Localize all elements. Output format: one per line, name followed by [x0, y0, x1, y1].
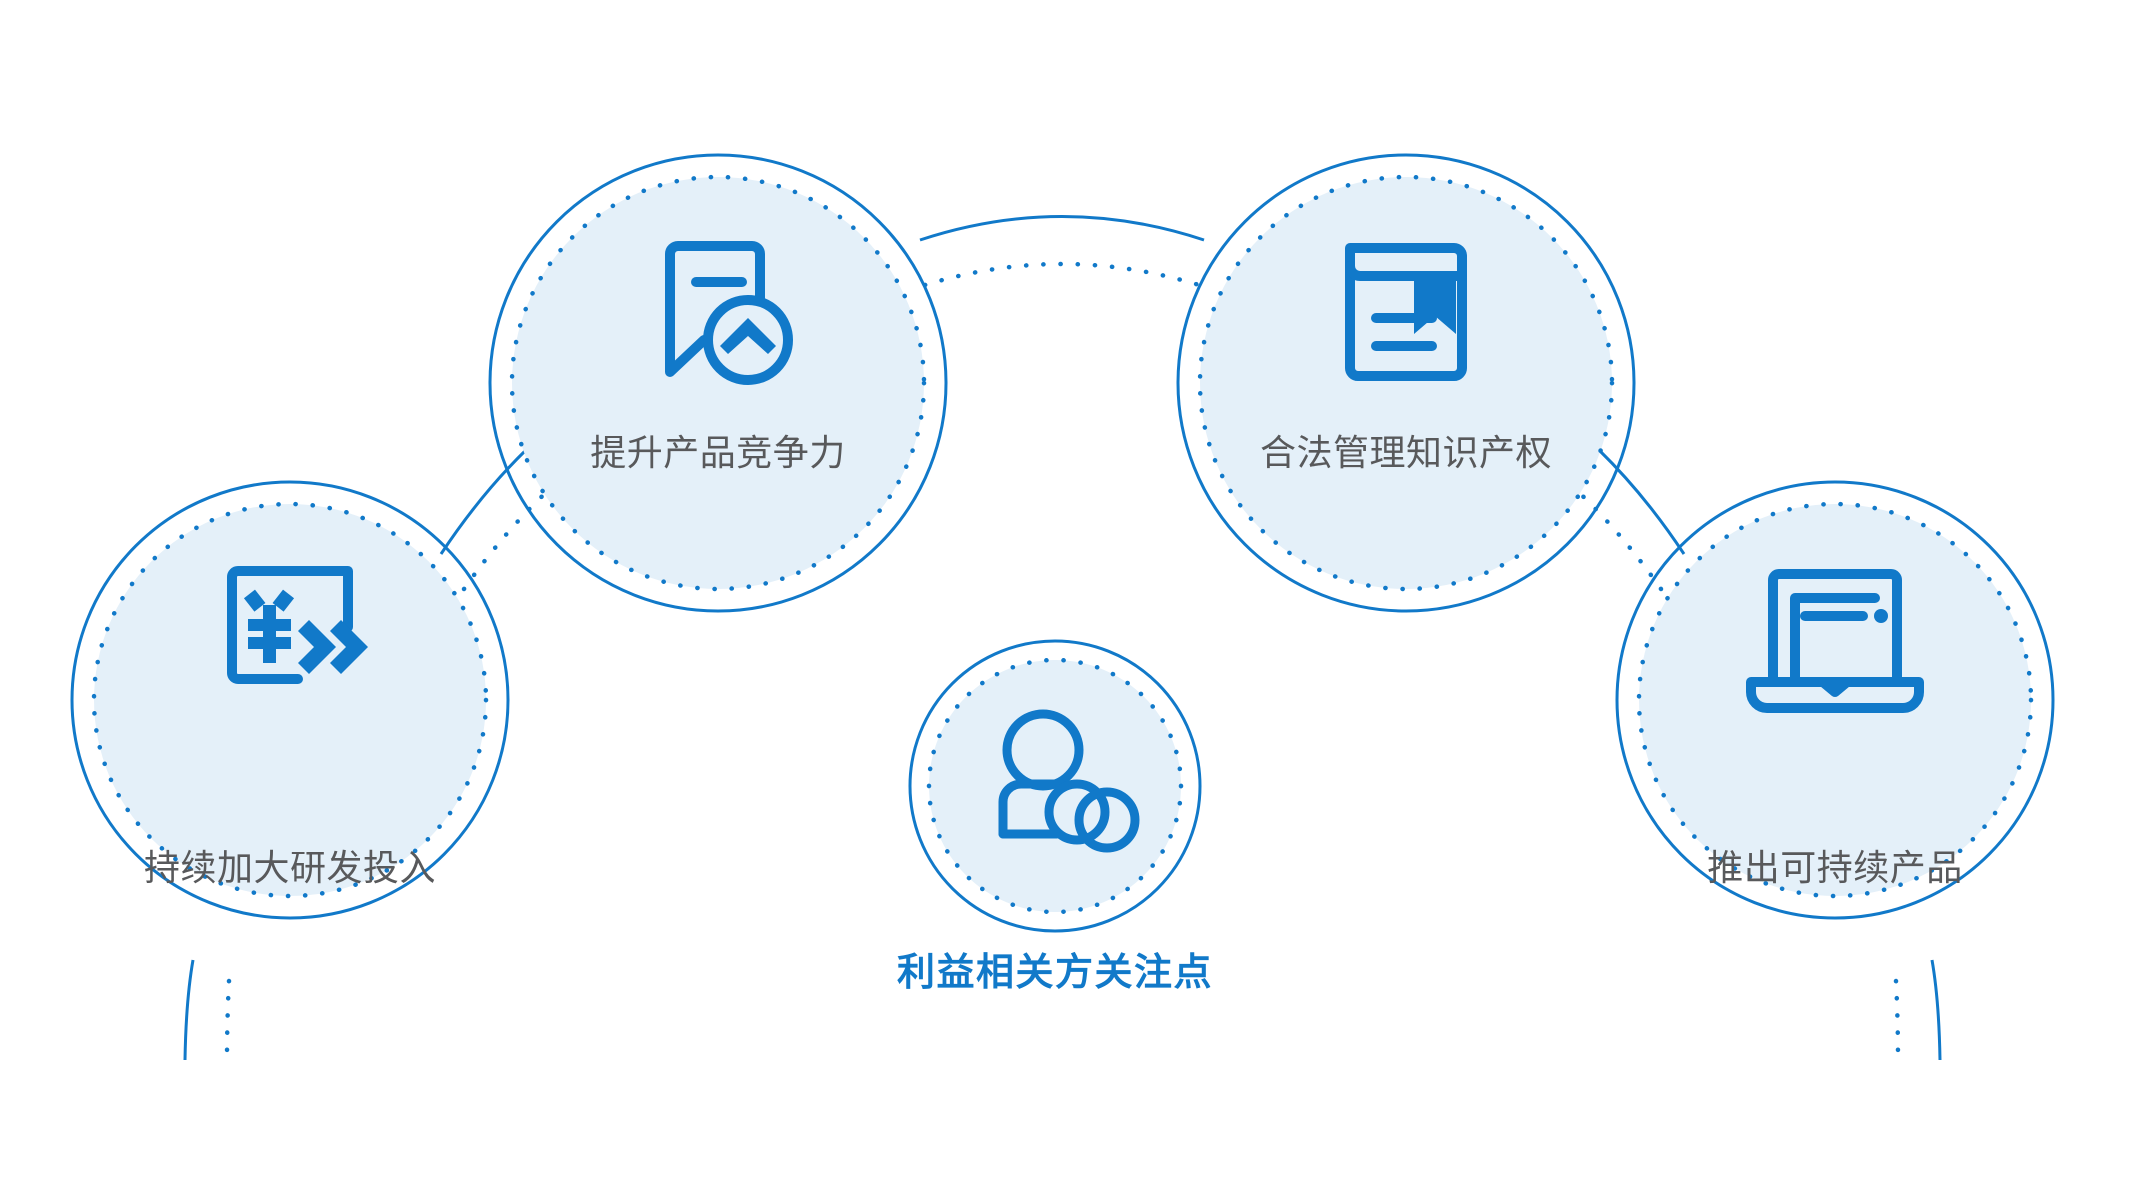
node-product-competitiveness[interactable]: 提升产品竞争力 — [490, 155, 946, 611]
node-label-product-competitiveness: 提升产品竞争力 — [590, 432, 846, 473]
center-node-label: 利益相关方关注点 — [897, 952, 1213, 994]
node-stakeholder-focus[interactable]: 利益相关方关注点 — [897, 641, 1213, 994]
connector-solid-left-up — [441, 450, 526, 554]
connector-solid-right-tail — [1932, 960, 1940, 1060]
connector-dotted-right-tail — [1896, 981, 1898, 1060]
connector-dotted-left-up — [464, 485, 554, 589]
connector-dotted-right-up — [1571, 485, 1661, 589]
node-dotted-ring — [1639, 504, 2031, 896]
node-label-sustainable-products: 推出可持续产品 — [1707, 847, 1963, 888]
node-dotted-ring — [1200, 177, 1612, 589]
node-rd-investment[interactable]: 持续加大研发投入 — [72, 482, 508, 918]
node-dotted-ring — [512, 177, 924, 589]
node-sustainable-products[interactable]: 推出可持续产品 — [1617, 482, 2053, 918]
connector-dotted-top-bridge — [925, 264, 1199, 285]
connector-solid-left-tail — [185, 960, 193, 1060]
node-label-ip-management: 合法管理知识产权 — [1260, 432, 1552, 473]
node-dotted-ring — [94, 504, 486, 896]
connector-solid-right-up — [1599, 450, 1684, 554]
node-label-rd-investment: 持续加大研发投入 — [144, 847, 436, 888]
connector-solid-top-bridge — [920, 217, 1204, 241]
connector-dotted-left-tail — [227, 981, 229, 1060]
stakeholder-concerns-diagram: 持续加大研发投入 提升产品竞争力 — [0, 0, 2139, 1183]
diagram-canvas: 持续加大研发投入 提升产品竞争力 — [0, 0, 2139, 1183]
node-ip-management[interactable]: 合法管理知识产权 — [1178, 155, 1634, 611]
